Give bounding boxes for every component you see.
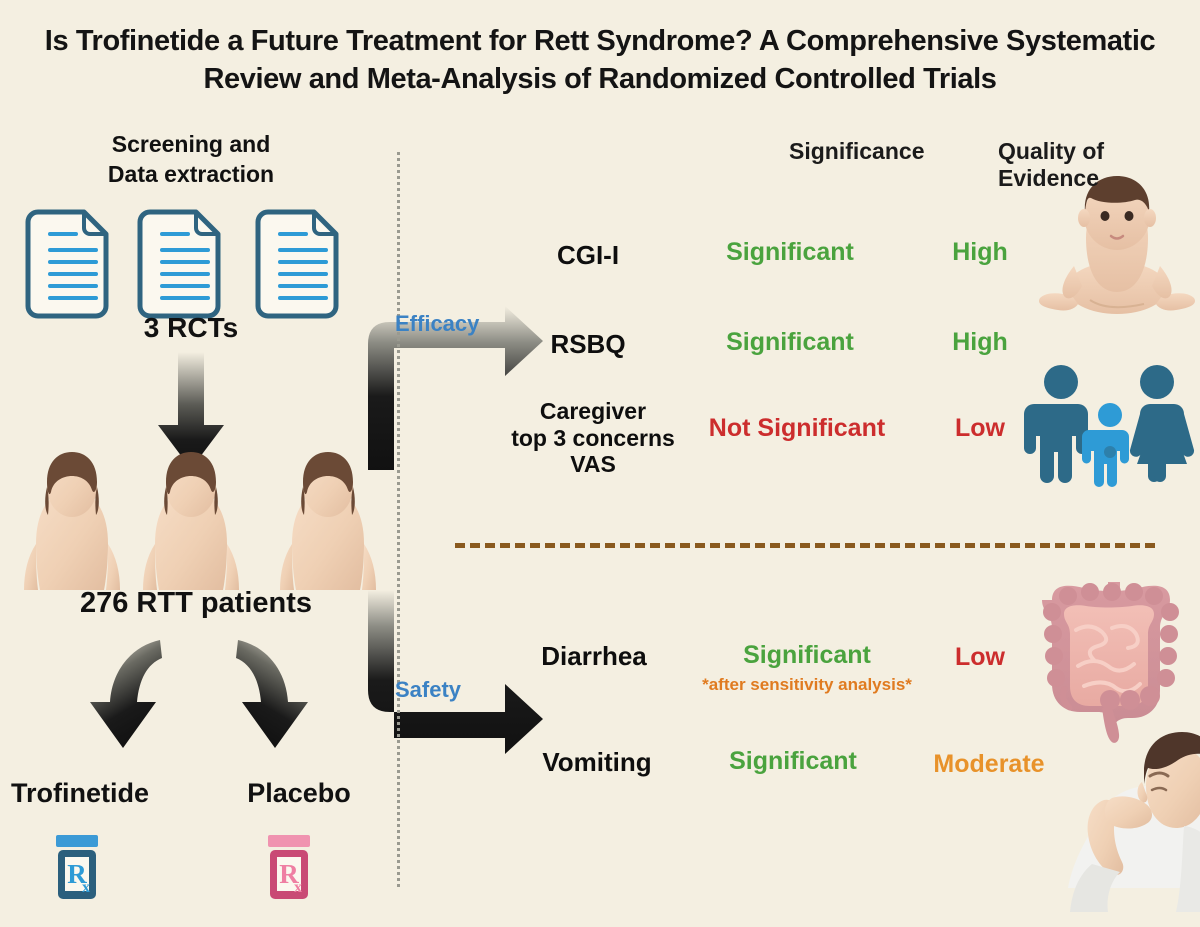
svg-text:R: R	[279, 859, 299, 889]
document-icon	[258, 212, 336, 316]
rcts-label: 3 RCTs	[144, 312, 238, 344]
outcome-name-diarrhea: Diarrhea	[541, 641, 647, 671]
intestines-illustration	[1042, 582, 1179, 743]
outcome-name-vomiting: Vomiting	[542, 747, 651, 777]
patient-figure-illustration	[143, 452, 239, 590]
arm-label-placebo: Placebo	[247, 778, 351, 809]
split-arrow-right-icon	[236, 640, 308, 748]
document-icon	[140, 212, 218, 316]
down-arrow-icon	[158, 352, 224, 469]
column-header-quality-of-evidence: Quality of Evidence	[998, 138, 1200, 192]
patient-figure-illustration	[280, 452, 376, 590]
significance-note-diarrhea: *after sensitivity analysis*	[702, 675, 912, 695]
screening-label: Screening and Data extraction	[108, 130, 274, 190]
outcome-name-caregiver-vas: Caregiver top 3 concerns VAS	[511, 398, 675, 478]
safety-branch-arrow-icon	[368, 590, 543, 754]
branch-label-safety: Safety	[395, 677, 461, 703]
svg-text:x: x	[294, 879, 302, 896]
screening-label-line1: Screening and	[108, 130, 274, 160]
branch-label-efficacy: Efficacy	[395, 311, 479, 337]
significance-value-caregiver-vas: Not Significant	[709, 414, 885, 443]
svg-text:R: R	[67, 859, 87, 889]
quality-value-diarrhea: Low	[955, 643, 1005, 672]
significance-value-rsbq: Significant	[726, 328, 854, 357]
outcome-name-cgi-i: CGI-I	[557, 240, 619, 270]
family-pictogram-icon	[1024, 365, 1194, 487]
arm-label-trofinetide: Trofinetide	[11, 778, 149, 809]
document-icon	[28, 212, 106, 316]
quality-value-cgi-i: High	[952, 238, 1008, 267]
outcome-line3: VAS	[511, 451, 675, 478]
patient-figure-illustration	[24, 452, 120, 590]
graphical-abstract: Is Trofinetide a Future Treatment for Re…	[0, 0, 1200, 927]
rx-bottle-blue-icon: R x	[56, 835, 98, 899]
quality-value-vomiting: Moderate	[933, 750, 1044, 779]
outcome-line1: Caregiver	[511, 398, 675, 425]
nauseated-person-illustration	[1068, 732, 1200, 912]
horizontal-dashed-divider	[455, 543, 1155, 548]
rx-bottle-pink-icon: R x	[268, 835, 310, 899]
significance-value-diarrhea: Significant	[743, 641, 871, 670]
svg-text:x: x	[82, 879, 90, 896]
vertical-dotted-divider	[397, 152, 400, 887]
quality-value-rsbq: High	[952, 328, 1008, 357]
quality-value-caregiver-vas: Low	[955, 414, 1005, 443]
column-header-significance: Significance	[789, 138, 924, 165]
significance-value-vomiting: Significant	[729, 747, 857, 776]
sitting-baby-illustration	[1039, 176, 1195, 314]
outcome-line2: top 3 concerns	[511, 425, 675, 452]
patients-label: 276 RTT patients	[80, 587, 312, 620]
screening-label-line2: Data extraction	[108, 160, 274, 190]
split-arrow-left-icon	[90, 640, 162, 748]
significance-value-cgi-i: Significant	[726, 238, 854, 267]
outcome-name-rsbq: RSBQ	[550, 329, 625, 359]
page-title: Is Trofinetide a Future Treatment for Re…	[0, 22, 1200, 99]
